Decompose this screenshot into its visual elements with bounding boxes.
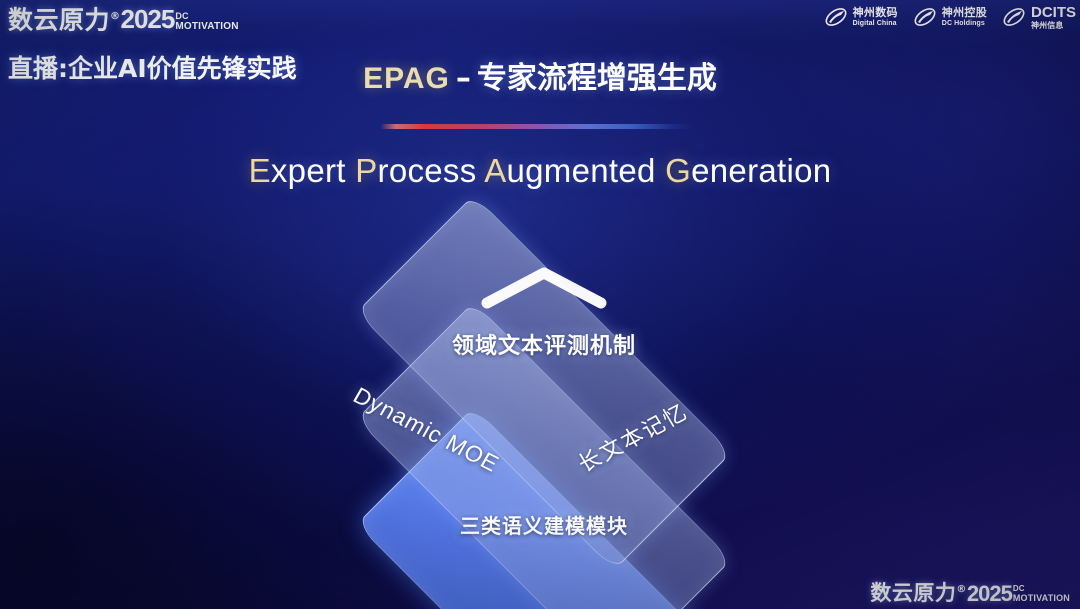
partner-name-latin: DCITS (1031, 5, 1076, 20)
registered-mark: ® (110, 11, 121, 22)
partner-name-cn: 神州信息 (1031, 22, 1076, 30)
subtitle-initial-e: E (249, 152, 271, 189)
partner-logo-dc-holdings: 神州控股 DC Holdings (912, 4, 987, 30)
swoosh-icon (1001, 4, 1027, 30)
partner-logo-dcits: DCITS 神州信息 (1001, 4, 1076, 30)
brand-dc: DC (1013, 584, 1070, 593)
partner-logo-group: 神州数码 Digital China 神州控股 DC Holdings (823, 4, 1076, 30)
subtitle-initial-a: A (484, 152, 506, 189)
slide-canvas: 数云原力® 2025 DC MOTIVATION 直播:企业AI价值先锋实践 神… (0, 0, 1080, 609)
partner-label-group: DCITS 神州信息 (1031, 5, 1076, 30)
layer-label-domain-text-evaluation: 领域文本评测机制 (452, 328, 636, 360)
brand-name-cn: 数云原力® (8, 3, 121, 33)
swoosh-icon (912, 4, 938, 30)
brand-logo-top-left: 数云原力® 2025 DC MOTIVATION (8, 3, 239, 33)
partner-label-group: 神州控股 DC Holdings (942, 7, 987, 27)
title-acronym: EPAG (363, 62, 450, 95)
partner-name-en: DC Holdings (942, 20, 987, 27)
brand-logo-bottom-right: 数云原力® 2025 DC MOTIVATION (870, 578, 1070, 605)
registered-mark: ® (956, 584, 967, 595)
subtitle-rest-process: rocess (378, 152, 485, 189)
partner-logo-digital-china: 神州数码 Digital China (823, 4, 898, 30)
isometric-layer-stack: Dynamic MOE 长文本记忆 领域文本评测机制 三类语义建模模块 (254, 222, 834, 582)
brand-dc-motivation: DC MOTIVATION (1013, 584, 1070, 605)
brand-name-cn: 数云原力® (870, 578, 967, 605)
brand-motivation: MOTIVATION (175, 22, 238, 31)
brand-dc-motivation: DC MOTIVATION (175, 12, 238, 33)
partner-name-cn: 神州控股 (942, 7, 987, 18)
subtitle-initial-g: G (665, 152, 691, 189)
layer-label-semantic-modeling: 三类语义建模模块 (460, 510, 628, 539)
subtitle-rest-augmented: ugmented (507, 152, 666, 189)
swoosh-icon (823, 4, 849, 30)
brand-motivation: MOTIVATION (1013, 594, 1070, 603)
subtitle-initial-p: P (355, 152, 377, 189)
brand-year: 2025 (967, 582, 1012, 605)
brand-year: 2025 (121, 6, 175, 33)
brand-dc: DC (175, 12, 238, 21)
title-chinese: 专家流程增强生成 (477, 61, 717, 96)
partner-label-group: 神州数码 Digital China (853, 7, 898, 27)
subtitle-rest-generation: eneration (691, 152, 831, 189)
partner-name-en: Digital China (853, 20, 898, 27)
subtitle-rest-expert: xpert (271, 152, 355, 189)
page-title: EPAG–专家流程增强生成 (0, 53, 1080, 97)
chevron-up-icon (479, 265, 609, 311)
subtitle-expansion: Expert Process Augmented Generation (0, 152, 1080, 190)
partner-name-cn: 神州数码 (853, 7, 898, 18)
gradient-divider (380, 124, 695, 129)
title-dash: – (450, 61, 477, 96)
